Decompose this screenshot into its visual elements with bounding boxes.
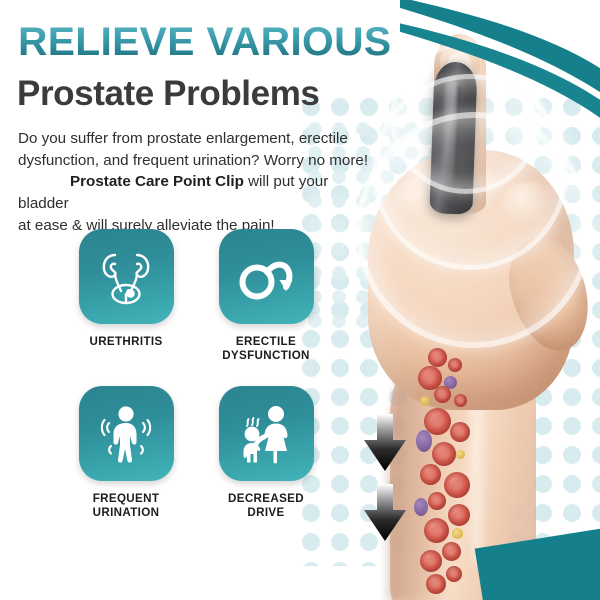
person-urgency-icon: [95, 403, 157, 465]
male-symbol-drooping-arrow-icon: [234, 249, 298, 305]
arrow-down-icon: [362, 414, 408, 472]
page-title: RELIEVE VARIOUS: [18, 22, 391, 62]
card-label: ERECTILE DYSFUNCTION: [196, 335, 336, 363]
symptom-card-urethritis: URETHRITIS: [56, 229, 196, 386]
symptom-card-decreased-drive: DECREASED DRIVE: [196, 386, 336, 543]
arrow-down-icon: [362, 484, 408, 542]
card-tile: [219, 386, 314, 481]
symptom-card-erectile-dysfunction: ERECTILE DYSFUNCTION: [196, 229, 336, 386]
card-tile: [79, 386, 174, 481]
symptom-card-grid: URETHRITIS ERECTILE DYSFUNCTION: [56, 229, 336, 543]
symptom-card-frequent-urination: FREQUENT URINATION: [56, 386, 196, 543]
card-label: URETHRITIS: [56, 335, 196, 349]
page-subtitle: Prostate Problems: [17, 76, 319, 111]
card-label: FREQUENT URINATION: [56, 492, 196, 520]
card-label: DECREASED DRIVE: [196, 492, 336, 520]
arrow-group: [362, 414, 408, 542]
product-name: Prostate Care Point Clip: [70, 173, 244, 190]
body-copy: Do you suffer from prostate enlargement,…: [18, 128, 370, 237]
body-line-3: Prostate Care Point Clip will put your b…: [18, 171, 370, 214]
advertisement-poster: RELIEVE VARIOUS Prostate Problems Do you…: [0, 0, 600, 600]
kidneys-bladder-icon: [95, 246, 157, 308]
card-tile: [219, 229, 314, 324]
couple-low-libido-icon: [234, 404, 298, 464]
card-tile: [79, 229, 174, 324]
vibration-ring: [356, 112, 592, 348]
body-line-2: dysfunction, and frequent urination? Wor…: [18, 150, 370, 172]
body-line-1: Do you suffer from prostate enlargement,…: [18, 128, 370, 150]
